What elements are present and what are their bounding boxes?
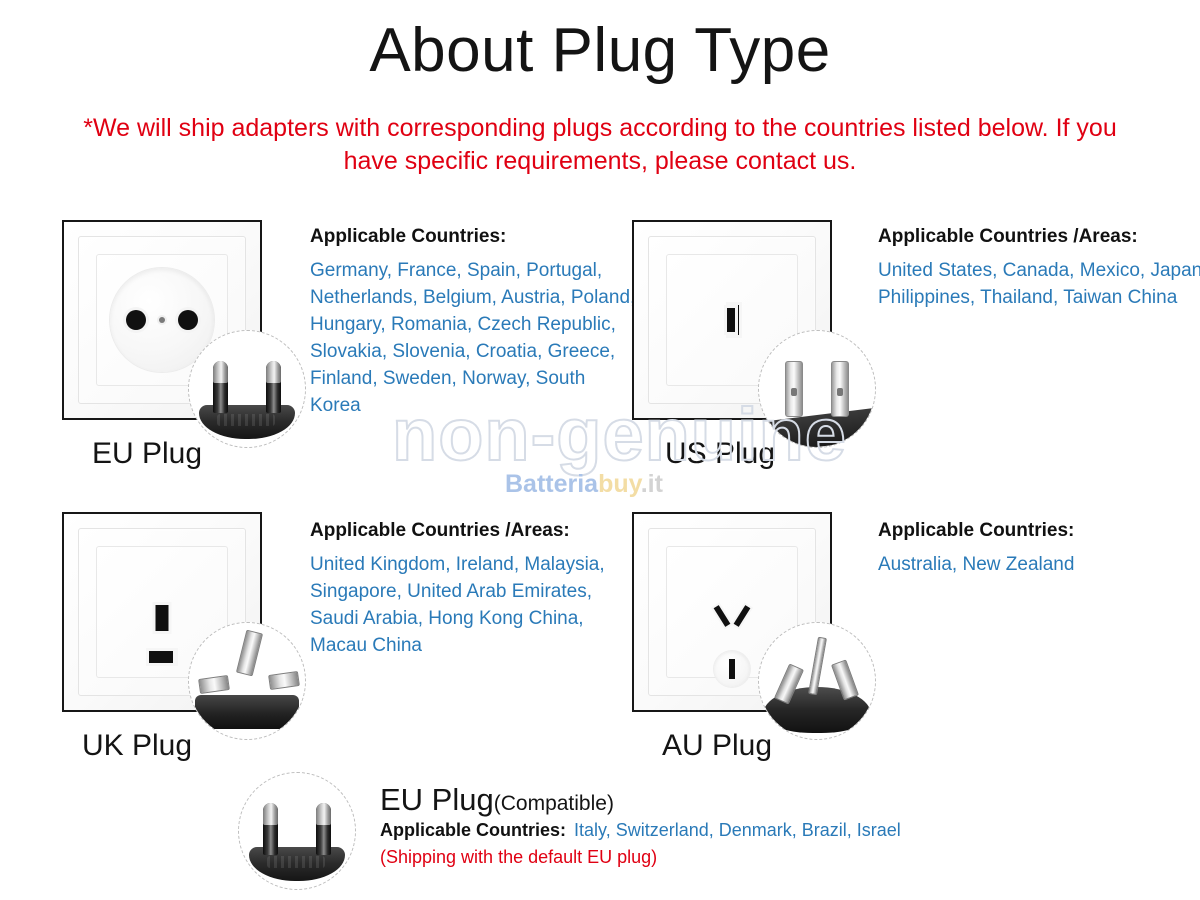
us-info-block: Applicable Countries /Areas: United Stat… <box>878 226 1200 312</box>
plug-caption-us: US Plug <box>665 437 775 471</box>
us-socket-illustration <box>632 220 862 450</box>
us-plug-body <box>758 407 876 448</box>
page-title: About Plug Type <box>0 18 1200 83</box>
plug-caption-eu: EU Plug <box>92 437 202 471</box>
eu-plug-inset-icon <box>188 330 306 448</box>
eu-socket-hole-right <box>178 310 198 330</box>
eu-applicable-heading: Applicable Countries: <box>310 226 640 248</box>
plug-caption-uk: UK Plug <box>82 729 192 763</box>
compatible-country-list: Italy, Switzerland, Denmark, Brazil, Isr… <box>574 820 901 840</box>
uk-plug-inset-icon <box>188 622 306 740</box>
compatible-title: EU Plug(Compatible) <box>380 782 614 818</box>
compatible-applicable-heading: Applicable Countries: <box>380 820 566 840</box>
uk-applicable-heading: Applicable Countries /Areas: <box>310 520 640 542</box>
au-country-list: Australia, New Zealand <box>878 552 1200 579</box>
us-socket-slot-right <box>727 308 735 332</box>
uk-country-list: United Kingdom, Ireland, Malaysia, Singa… <box>310 552 640 660</box>
au-socket-illustration <box>632 512 862 742</box>
compatible-title-main: EU Plug <box>380 782 494 817</box>
au-socket-slot-left <box>734 605 751 627</box>
uk-socket-earth-slot <box>156 605 169 631</box>
uk-socket-illustration <box>62 512 292 742</box>
compatible-title-suffix: (Compatible) <box>494 792 614 815</box>
uk-plug-body <box>195 695 299 729</box>
eu-compatible-prong-left <box>263 803 278 855</box>
eu-plug-prong-right <box>266 361 281 413</box>
uk-socket-slot-right <box>149 651 173 663</box>
eu-socket-hole-left <box>126 310 146 330</box>
eu-plug-prong-left <box>213 361 228 413</box>
compatible-shipping-note: (Shipping with the default EU plug) <box>380 847 657 868</box>
uk-plug-prong-right <box>268 671 300 690</box>
eu-compatible-plug-inset-icon <box>238 772 356 890</box>
uk-info-block: Applicable Countries /Areas: United King… <box>310 520 640 660</box>
uk-plug-earth-prong <box>236 630 263 677</box>
plug-caption-au: AU Plug <box>662 729 772 763</box>
eu-info-block: Applicable Countries: Germany, France, S… <box>310 226 640 420</box>
eu-country-list: Germany, France, Spain, Portugal, Nether… <box>310 258 640 420</box>
us-plug-blade-right <box>831 361 849 417</box>
us-plug-blade-left <box>785 361 803 417</box>
eu-socket-illustration <box>62 220 292 450</box>
watermark-brand: Batteriabuy.it <box>505 472 663 497</box>
au-plug-inset-icon <box>758 622 876 740</box>
watermark-brand-part1: Batteria <box>505 470 598 498</box>
compatible-countries-row: Applicable Countries:Italy, Switzerland,… <box>380 820 901 841</box>
us-country-list: United States, Canada, Mexico, Japan, Ph… <box>878 258 1200 312</box>
watermark-brand-part3: .it <box>641 470 663 498</box>
uk-plug-prong-left <box>198 675 230 694</box>
eu-socket-center-pin <box>159 317 165 323</box>
watermark-brand-part2: buy <box>598 470 641 498</box>
us-applicable-heading: Applicable Countries /Areas: <box>878 226 1200 248</box>
au-socket-earth-recess <box>714 651 750 687</box>
us-plug-inset-icon <box>758 330 876 448</box>
au-socket-slot-right <box>714 605 731 627</box>
au-info-block: Applicable Countries: Australia, New Zea… <box>878 520 1200 579</box>
au-socket-earth-slot <box>729 659 735 679</box>
eu-compatible-prong-right <box>316 803 331 855</box>
au-applicable-heading: Applicable Countries: <box>878 520 1200 542</box>
shipping-note-subtitle: *We will ship adapters with correspondin… <box>60 112 1140 177</box>
